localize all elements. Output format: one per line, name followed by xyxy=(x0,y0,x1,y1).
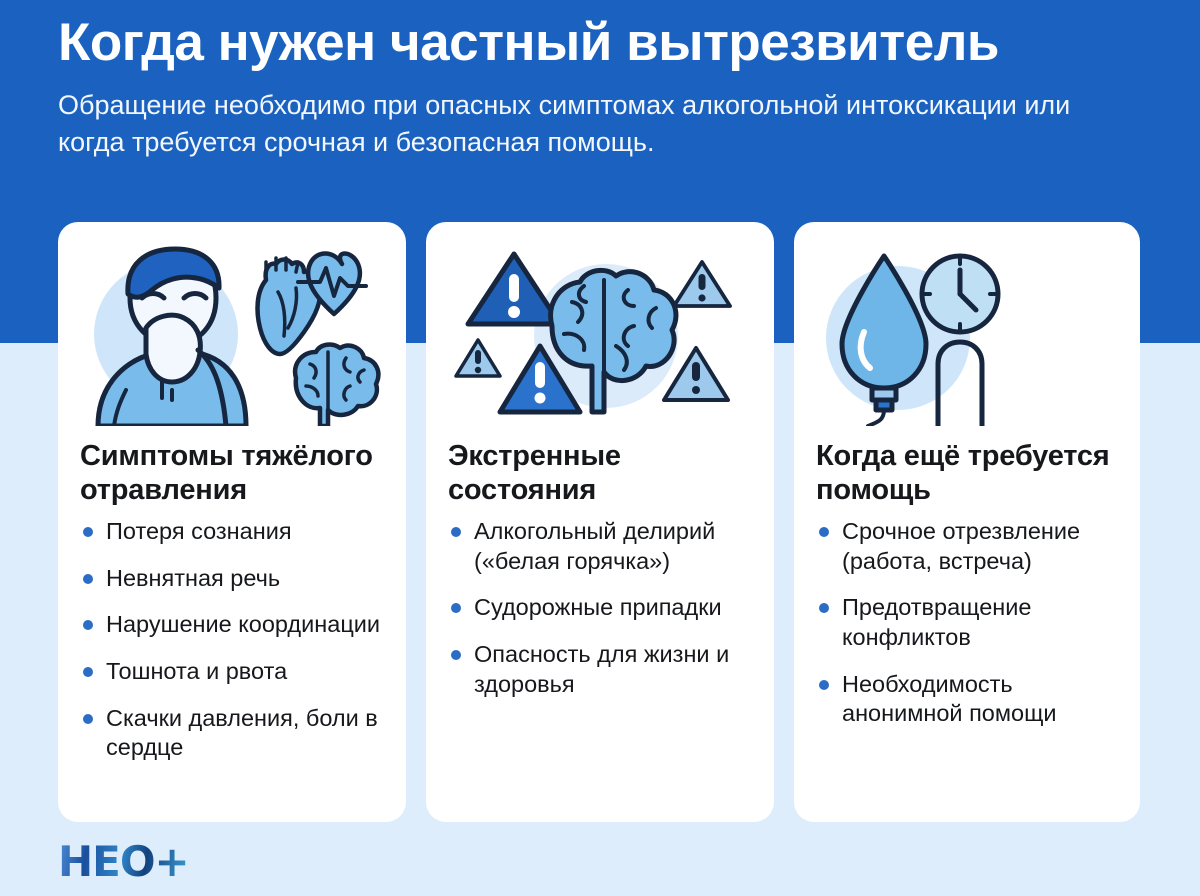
cards-container: Симптомы тяжёлого отравления Потеря созн… xyxy=(58,222,1142,822)
illustration-emergency-conditions xyxy=(448,240,752,430)
illustration-svg-card-1 xyxy=(80,240,390,426)
page-subtitle: Обращение необходимо при опасных симптом… xyxy=(58,87,1078,162)
card-title: Когда ещё требуется помощь xyxy=(816,440,1118,507)
illustration-svg-card-3 xyxy=(816,240,1126,426)
illustration-svg-card-2 xyxy=(448,240,758,426)
warning-triangle-icon xyxy=(456,340,500,376)
warning-triangle-icon xyxy=(674,262,730,306)
brain-icon xyxy=(295,345,378,426)
list-item: Необходимость анонимной помощи xyxy=(816,670,1118,729)
help-reasons-list: Срочное отрезвление (работа, встреча) Пр… xyxy=(816,517,1118,729)
list-item: Скачки давления, боли в сердце xyxy=(80,704,384,763)
clock-icon xyxy=(922,256,998,332)
infographic-page: Когда нужен частный вытрезвитель Обращен… xyxy=(0,0,1200,896)
list-item: Потеря сознания xyxy=(80,517,384,547)
list-item: Алкогольный делирий («белая горячка») xyxy=(448,517,752,576)
logo-text-neo: НЕО xyxy=(58,837,155,886)
illustration-severe-poisoning xyxy=(80,240,384,430)
header-content: Когда нужен частный вытрезвитель Обращен… xyxy=(58,14,1158,162)
list-item: Тошнота и рвота xyxy=(80,657,384,687)
symptom-list: Потеря сознания Невнятная речь Нарушение… xyxy=(80,517,384,763)
warning-triangle-icon xyxy=(468,254,560,324)
list-item: Невнятная речь xyxy=(80,564,384,594)
illustration-when-else-help xyxy=(816,240,1118,430)
logo-plus-icon: + xyxy=(155,837,189,886)
list-item: Судорожные припадки xyxy=(448,593,752,623)
card-emergency-conditions: Экстренные состояния Алкогольный делирий… xyxy=(426,222,774,822)
logo-wordmark: НЕО+ xyxy=(58,837,189,886)
list-item: Срочное отрезвление (работа, встреча) xyxy=(816,517,1118,576)
card-severe-poisoning-symptoms: Симптомы тяжёлого отравления Потеря созн… xyxy=(58,222,406,822)
list-item: Опасность для жизни и здоровья xyxy=(448,640,752,699)
page-title: Когда нужен частный вытрезвитель xyxy=(58,14,1158,71)
card-when-else-help-needed: Когда ещё требуется помощь Срочное отрез… xyxy=(794,222,1140,822)
brand-logo: НЕО+ xyxy=(58,838,189,884)
list-item: Предотвращение конфликтов xyxy=(816,593,1118,652)
card-title: Симптомы тяжёлого отравления xyxy=(80,440,384,507)
card-title: Экстренные состояния xyxy=(448,440,752,507)
list-item: Нарушение координации xyxy=(80,610,384,640)
emergency-list: Алкогольный делирий («белая горячка») Су… xyxy=(448,517,752,699)
